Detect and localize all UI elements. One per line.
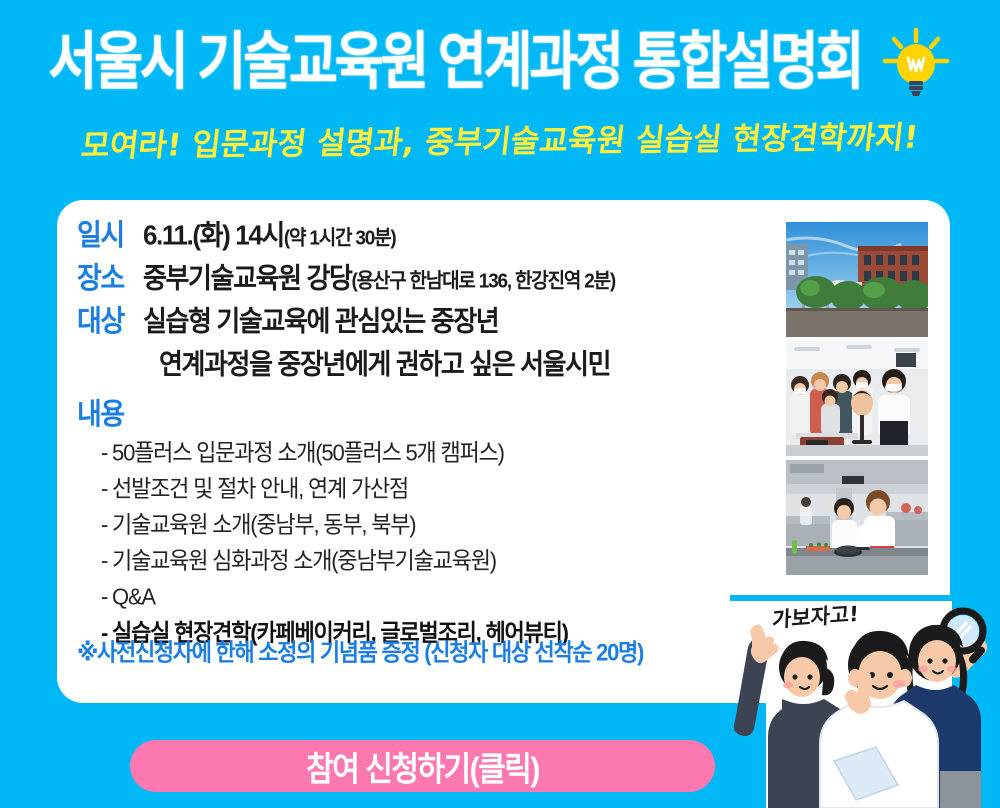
- list-item: - 기술교육원 소개(중남부, 동부, 북부): [101, 506, 717, 544]
- photo-hair-beauty-class: [786, 341, 928, 456]
- photo-campus-building: [786, 222, 928, 337]
- list-item: - Q&A: [101, 578, 717, 616]
- info-row-target: 대상 실습형 기술교육에 관심있는 중장년: [77, 302, 717, 341]
- photo-stack: [786, 222, 928, 575]
- place-label: 장소: [77, 257, 143, 299]
- list-item: - 50플러스 입문과정 소개(50플러스 5개 캠퍼스): [101, 434, 717, 472]
- list-item: - 기술교육원 심화과정 소개(중남부기술교육원): [101, 542, 717, 580]
- info-card: 일시 6.11.(화) 14시(약 1시간 30분) 장소 중부기술교육원 강당…: [57, 200, 950, 703]
- content-label: 내용: [77, 390, 717, 433]
- list-item: - 선발조건 및 절차 안내, 연계 가산점: [101, 470, 717, 508]
- info-row-place: 장소 중부기술교육원 강당(용산구 한남대로 136, 한강진역 2분): [77, 259, 717, 298]
- lightbulb-icon: [880, 26, 952, 100]
- page-title: 서울시 기술교육원 연계과정 통합설명회: [48, 30, 861, 96]
- content-list: - 50플러스 입문과정 소개(50플러스 5개 캠퍼스) - 선발조건 및 절…: [101, 435, 717, 651]
- date-value: 6.11.(화) 14시(약 1시간 30분): [143, 214, 396, 256]
- place-main: 중부기술교육원 강당: [143, 262, 352, 294]
- apply-button-label: 참여 신청하기(클릭): [306, 741, 539, 790]
- date-note: (약 1시간 30분): [284, 227, 396, 250]
- place-note: (용산구 한남대로 136, 한강진역 2분): [352, 270, 615, 293]
- title-row: 서울시 기술교육원 연계과정 통합설명회: [0, 26, 1000, 100]
- info-card-body: 일시 6.11.(화) 14시(약 1시간 30분) 장소 중부기술교육원 강당…: [77, 216, 717, 686]
- target-label: 대상: [77, 300, 143, 342]
- date-label: 일시: [77, 214, 143, 256]
- place-value: 중부기술교육원 강당(용산구 한남대로 136, 한강진역 2분): [143, 257, 615, 299]
- photo-cooking-class: [786, 460, 928, 575]
- poster-header: 서울시 기술교육원 연계과정 통합설명회 모여라! 입문과정 설명과, 중부기술…: [0, 0, 1000, 196]
- notice-text: ※사전신청자에 한해 소정의 기념품 증정 (신청자 대상 선착순 20명): [77, 634, 643, 669]
- target-line-2: 연계과정을 중장년에게 권하고 싶은 서울시민: [159, 343, 717, 385]
- target-line-1: 실습형 기술교육에 관심있는 중장년: [143, 300, 498, 342]
- apply-button[interactable]: 참여 신청하기(클릭): [130, 740, 715, 792]
- page-subtitle: 모여라! 입문과정 설명과, 중부기술교육원 실습실 현장견학까지!: [0, 111, 1000, 166]
- info-row-date: 일시 6.11.(화) 14시(약 1시간 30분): [77, 216, 717, 255]
- date-main: 6.11.(화) 14시: [143, 219, 284, 251]
